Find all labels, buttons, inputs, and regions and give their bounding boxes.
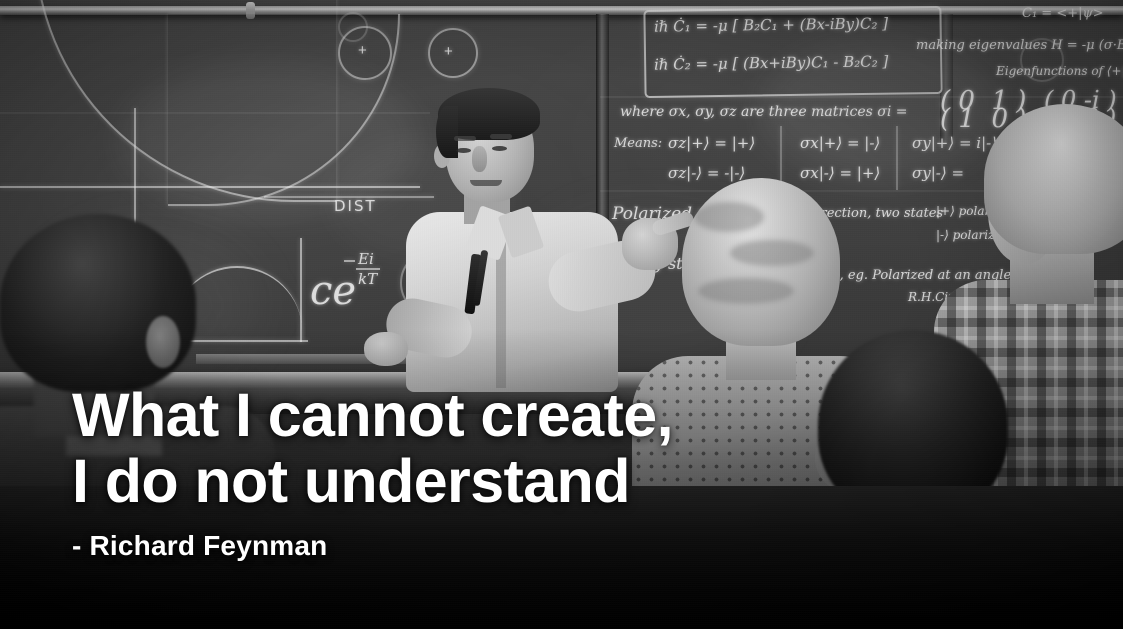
quote-overlay: What I cannot create, I do not understan…: [72, 382, 673, 562]
chalk-axis-horizontal: [0, 186, 420, 188]
student-mid-hair-wave-2: [730, 240, 814, 266]
equation-box: [643, 6, 942, 98]
quote-attribution: - Richard Feynman: [72, 530, 673, 562]
feynman-mouth: [470, 180, 502, 186]
chalk-column-rule-2: [896, 126, 898, 190]
student-mid-hair-wave-1: [694, 202, 764, 232]
student-right-hair: [984, 104, 1123, 254]
chalk-circle-5: [1020, 38, 1064, 82]
student-left-ear: [146, 316, 180, 368]
feynman-eye-left: [456, 148, 471, 153]
chalk-circle-4: [338, 12, 368, 42]
quote-line-2: I do not understand: [72, 448, 673, 514]
feynman-shirt-placket: [496, 238, 506, 388]
chalk-plus-2: +: [444, 44, 453, 59]
lecturer-feynman: [398, 88, 660, 388]
feynman-sideburn: [436, 106, 458, 158]
feynman-hand-left: [364, 332, 408, 366]
feynman-eye-right: [492, 146, 507, 151]
quote-line-1: What I cannot create,: [72, 382, 673, 448]
chalk-minus-sign: [344, 260, 355, 262]
chalk-circle-2: [428, 28, 478, 78]
quote-image: DIST ce Ei kT + + + iℏ Ċ₁ = -μ [ B₂C₁ + …: [0, 0, 1123, 629]
feynman-nose: [472, 146, 487, 172]
student-mid-hair-wave-3: [698, 278, 794, 304]
feynman-brow-left: [454, 136, 476, 141]
chalk-plus-1: +: [358, 43, 367, 58]
chalk-fraction-bar: [356, 268, 380, 270]
feynman-brow-right: [490, 134, 512, 139]
